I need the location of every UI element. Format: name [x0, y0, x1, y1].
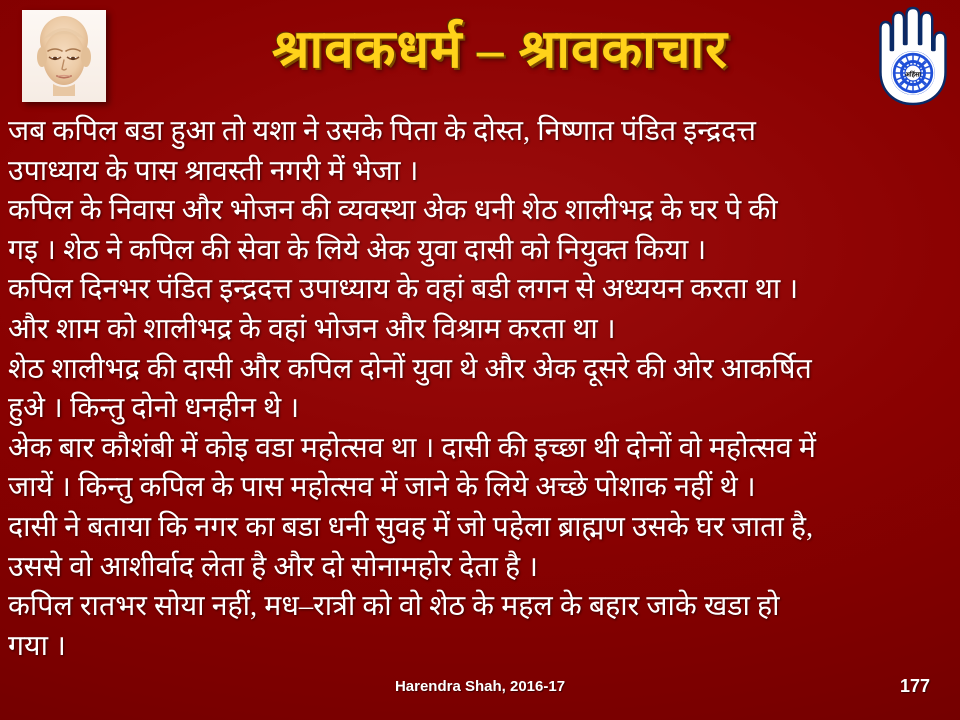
page-title: श्रावकधर्म – श्रावकाचार: [130, 14, 870, 86]
text-line: कपिल रातभर सोया नहीं, मध–रात्री को वो शे…: [8, 587, 952, 627]
text-line: शेठ शालीभद्र की दासी और कपिल दोनों युवा …: [8, 350, 952, 390]
text-line: अेक बार कौशंबी में कोइ वडा महोत्सव था । …: [8, 429, 952, 469]
text-line: उससे वो आशीर्वाद लेता है और दो सोनामहोर …: [8, 548, 952, 588]
text-line: जायें । किन्तु कपिल के पास महोत्सव में ज…: [8, 468, 952, 508]
text-line: उपाध्याय के पास श्रावस्ती नगरी में भेजा …: [8, 152, 952, 192]
tirthankara-face-icon: [22, 10, 106, 102]
slide-header: श्रावकधर्म – श्रावकाचार: [0, 0, 960, 112]
footer-credit: Harendra Shah, 2016-17: [0, 678, 960, 695]
text-line: कपिल दिनभर पंडित इन्द्रदत्त उपाध्याय के …: [8, 270, 952, 310]
text-line: गया ।: [8, 627, 952, 667]
text-line: और शाम को शालीभद्र के वहां भोजन और विश्र…: [8, 310, 952, 350]
page-number: 177: [900, 676, 930, 697]
slide-body-text: जब कपिल बडा हुआ तो यशा ने उसके पिता के द…: [8, 112, 952, 666]
text-line: कपिल के निवास और भोजन की व्यवस्था अेक धन…: [8, 191, 952, 231]
text-line: हुअे । किन्तु दोनो धनहीन थे ।: [8, 389, 952, 429]
jain-ahimsa-hand-icon: अहिंसा: [878, 6, 948, 106]
presentation-slide: श्रावकधर्म – श्रावकाचार: [0, 0, 960, 720]
ahimsa-wheel-text: अहिंसा: [905, 70, 921, 78]
text-line: दासी ने बताया कि नगर का बडा धनी सुवह में…: [8, 508, 952, 548]
tirthankara-face-image: [22, 10, 106, 102]
text-line: जब कपिल बडा हुआ तो यशा ने उसके पिता के द…: [8, 112, 952, 152]
text-line: गइ । शेठ ने कपिल की सेवा के लिये अेक युव…: [8, 231, 952, 271]
